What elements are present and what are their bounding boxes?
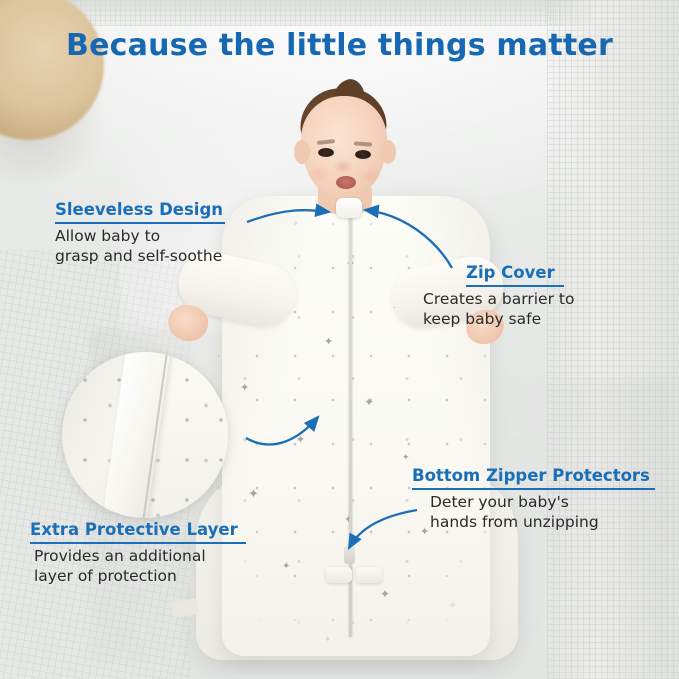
callout-body-extra-protective-layer: Provides an additional layer of protecti… [30, 547, 270, 587]
baby-left-ear [294, 140, 310, 164]
callout-underline-bottom-zipper-protectors [412, 488, 655, 490]
baby-nose [333, 159, 353, 172]
baby-right-ear [380, 140, 396, 164]
callout-underline-zip-cover [466, 285, 564, 287]
zip-cover-tab [336, 198, 362, 218]
bottom-zipper-protector-right [356, 567, 382, 583]
callout-title-sleeveless-design: Sleeveless Design [55, 200, 260, 219]
fabric-closeup-inset [62, 352, 228, 518]
baby-right-eye [355, 150, 371, 159]
bottom-zipper-protector-left [326, 567, 352, 583]
page-title: Because the little things matter [0, 28, 679, 63]
callout-body-bottom-zipper-protectors: Deter your baby's hands from unzipping [412, 493, 662, 533]
baby-left-cheek [306, 166, 330, 182]
callout-underline-extra-protective-layer [30, 542, 246, 544]
callout-extra-protective-layer: Extra Protective Layer Provides an addit… [30, 520, 270, 587]
baby-left-eye [318, 148, 334, 157]
callout-sleeveless-design: Sleeveless Design Allow baby to grasp an… [55, 200, 260, 267]
callout-title-extra-protective-layer: Extra Protective Layer [30, 520, 270, 539]
product-feature-infographic: ✦ ✦ ✦ ✦ ✦ ✦ ✦ ✦ ✦ ✦ ✦ ✦ ✦ ✦ ✦ ✦ ✦ ✦ [0, 0, 679, 679]
callout-body-sleeveless-design: Allow baby to grasp and self-soothe [55, 227, 260, 267]
callout-underline-sleeveless-design [55, 222, 225, 224]
callout-title-zip-cover: Zip Cover [423, 263, 643, 282]
callout-title-bottom-zipper-protectors: Bottom Zipper Protectors [412, 466, 662, 485]
callout-bottom-zipper-protectors: Bottom Zipper Protectors Deter your baby… [412, 466, 662, 533]
callout-zip-cover: Zip Cover Creates a barrier to keep baby… [423, 263, 643, 330]
callout-body-zip-cover: Creates a barrier to keep baby safe [423, 290, 643, 330]
zipper-pull [344, 546, 355, 564]
baby-mouth [336, 176, 356, 189]
baby-right-cheek [358, 168, 382, 184]
